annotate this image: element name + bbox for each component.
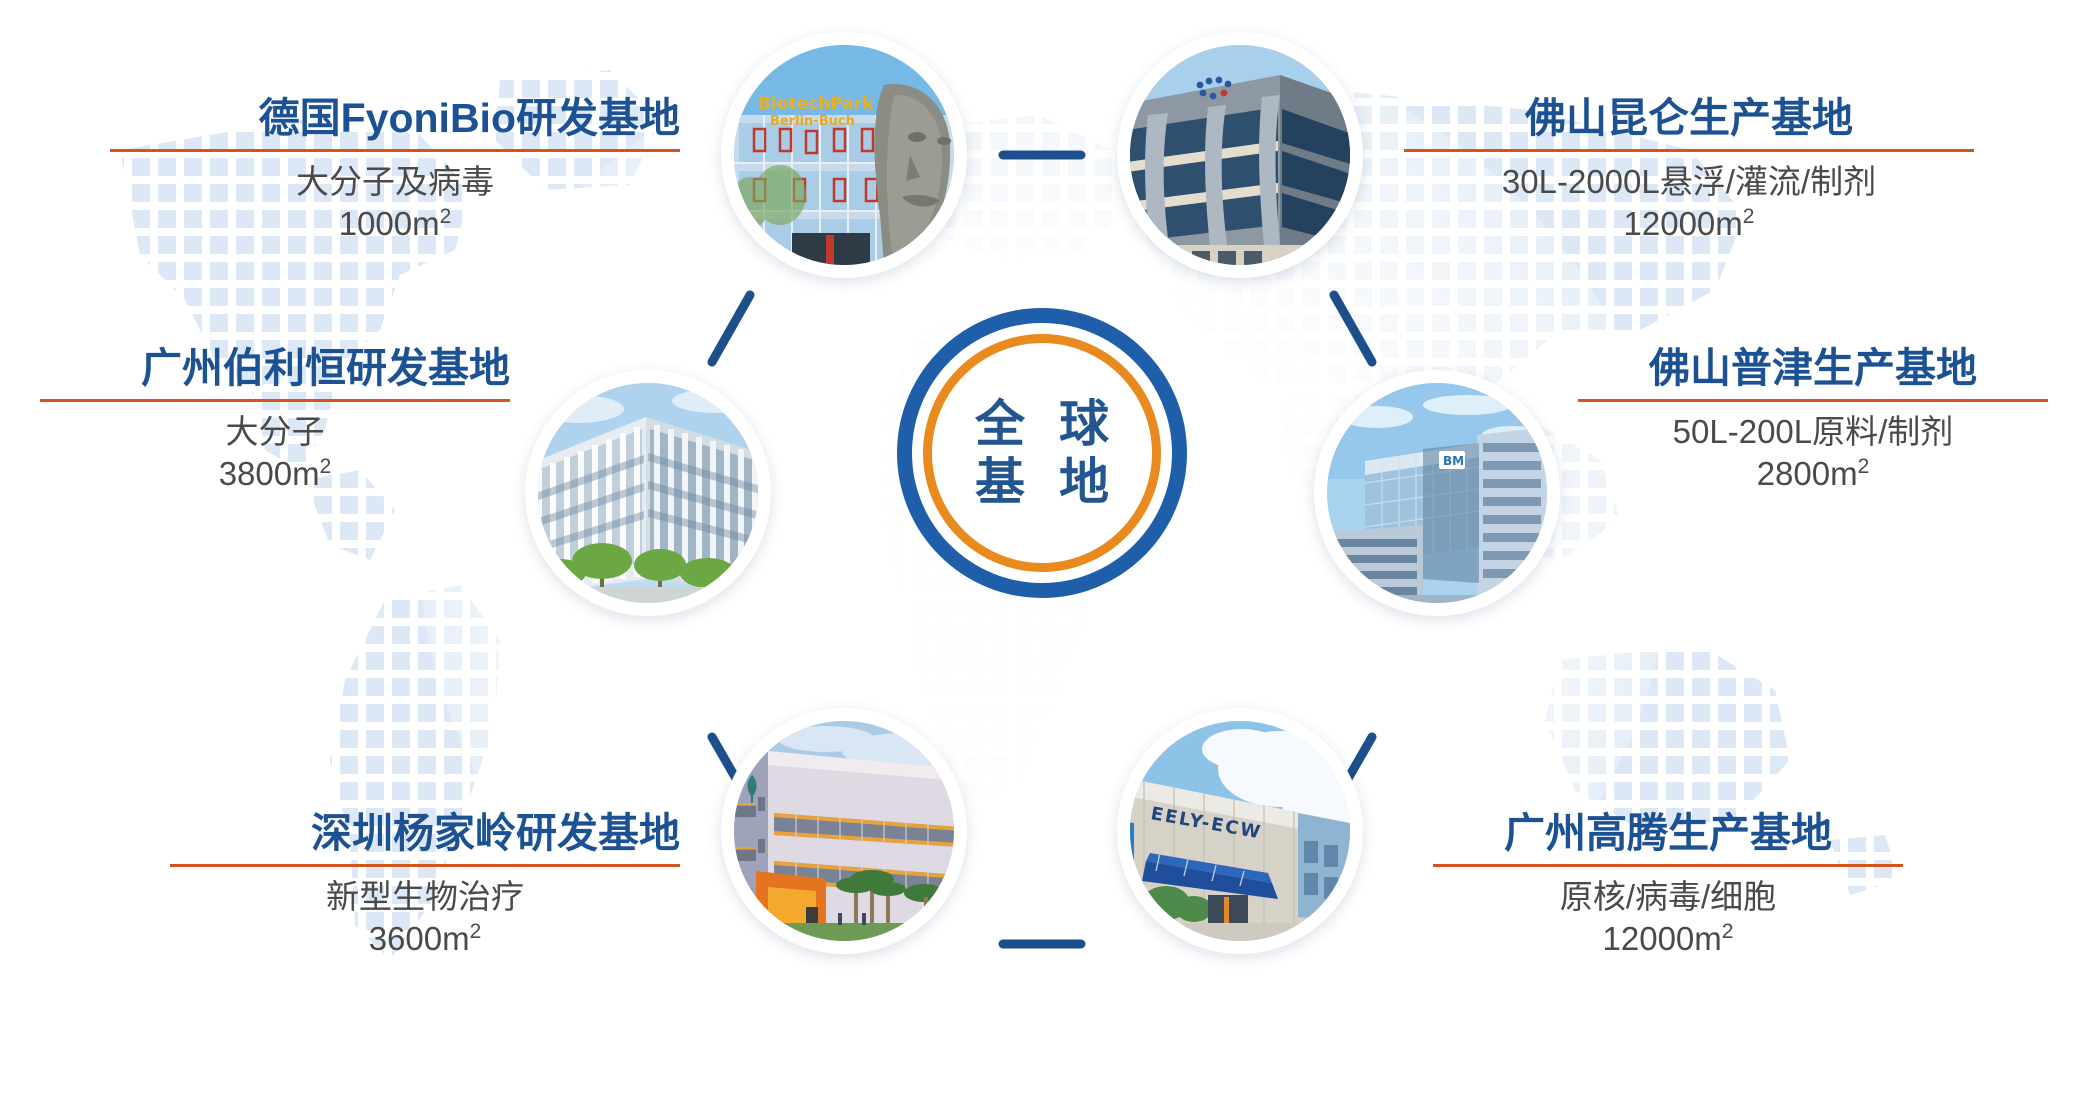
svg-text:Berlin-Buch: Berlin-Buch — [770, 114, 855, 129]
label-guangzhou-boliheng: 广州伯利恒研发基地 大分子 3800m2 — [40, 345, 510, 496]
node-area-germany-fyonibio: 1000m2 — [110, 203, 680, 245]
title-underline — [170, 864, 680, 867]
global-bases-infographic: BiotechPark Berlin-Buch — [0, 0, 2084, 1098]
node-area-shenzhen-yangjialing: 3600m2 — [170, 918, 680, 960]
svg-text:BiotechPark: BiotechPark — [758, 94, 874, 114]
node-subtitle-guangzhou-gaoteng: 原核/病毒/细胞 — [1433, 876, 1903, 918]
node-subtitle-germany-fyonibio: 大分子及病毒 — [110, 161, 680, 203]
label-germany-fyonibio: 德国FyoniBio研发基地 大分子及病毒 1000m2 — [110, 95, 680, 246]
area-exponent: 2 — [470, 920, 482, 943]
node-title-guangzhou-gaoteng: 广州高腾生产基地 — [1433, 810, 1903, 864]
area-exponent: 2 — [1858, 455, 1870, 478]
photo-circle-germany-fyonibio[interactable]: BiotechPark Berlin-Buch — [721, 32, 967, 278]
area-unit: m — [292, 455, 320, 492]
node-subtitle-foshan-kunlun: 30L-2000L悬浮/灌流/制剂 — [1404, 161, 1974, 203]
label-guangzhou-gaoteng: 广州高腾生产基地 原核/病毒/细胞 12000m2 — [1433, 810, 1903, 961]
node-title-shenzhen-yangjialing: 深圳杨家岭研发基地 — [170, 810, 680, 864]
photo-guangzhou-boliheng-facility — [538, 383, 758, 603]
connector-upper-left — [712, 295, 750, 362]
node-area-guangzhou-boliheng: 3800m2 — [40, 453, 510, 495]
title-underline — [110, 149, 680, 152]
node-area-foshan-kunlun: 12000m2 — [1404, 203, 1974, 245]
connector-upper-right — [1334, 295, 1372, 362]
photo-circle-foshan-kunlun[interactable] — [1117, 32, 1363, 278]
title-underline — [40, 399, 510, 402]
area-unit: m — [1694, 920, 1722, 957]
area-value: 1000 — [339, 205, 412, 242]
title-underline — [1404, 149, 1974, 152]
photo-foshan-pujin-facility: BM — [1327, 383, 1547, 603]
node-title-germany-fyonibio: 德国FyoniBio研发基地 — [110, 95, 680, 149]
area-value: 2800 — [1757, 455, 1830, 492]
label-foshan-pujin: 佛山普津生产基地 50L-200L原料/制剂 2800m2 — [1578, 345, 2048, 496]
node-area-foshan-pujin: 2800m2 — [1578, 453, 2048, 495]
area-value: 3600 — [369, 920, 442, 957]
area-unit: m — [1715, 205, 1743, 242]
photo-circle-shenzhen-yangjialing[interactable] — [721, 708, 967, 954]
area-exponent: 2 — [1722, 920, 1734, 943]
svg-text:BM: BM — [1443, 454, 1464, 468]
area-value: 12000 — [1624, 205, 1716, 242]
node-subtitle-foshan-pujin: 50L-200L原料/制剂 — [1578, 411, 2048, 453]
area-unit: m — [1830, 455, 1858, 492]
label-shenzhen-yangjialing: 深圳杨家岭研发基地 新型生物治疗 3600m2 — [170, 810, 680, 961]
node-subtitle-guangzhou-boliheng: 大分子 — [40, 411, 510, 453]
title-underline — [1433, 864, 1903, 867]
center-label: 全 球 基 地 — [897, 308, 1187, 598]
node-title-foshan-kunlun: 佛山昆仑生产基地 — [1404, 95, 1974, 149]
photo-circle-guangzhou-gaoteng[interactable]: EELY-ECW — [1117, 708, 1363, 954]
center-label-line2: 基 地 — [965, 456, 1119, 509]
node-title-guangzhou-boliheng: 广州伯利恒研发基地 — [40, 345, 510, 399]
photo-foshan-kunlun-facility — [1130, 45, 1350, 265]
photo-guangzhou-gaoteng-facility: EELY-ECW — [1130, 721, 1350, 941]
area-value: 12000 — [1603, 920, 1695, 957]
label-foshan-kunlun: 佛山昆仑生产基地 30L-2000L悬浮/灌流/制剂 12000m2 — [1404, 95, 1974, 246]
area-unit: m — [412, 205, 440, 242]
photo-biotechpark-berlin-buch: BiotechPark Berlin-Buch — [734, 45, 954, 265]
area-exponent: 2 — [1743, 205, 1755, 228]
photo-shenzhen-yangjialing-facility — [734, 721, 954, 941]
center-label-line1: 全 球 — [965, 398, 1119, 451]
node-title-foshan-pujin: 佛山普津生产基地 — [1578, 345, 2048, 399]
center-emblem: 全 球 基 地 — [897, 308, 1187, 598]
photo-circle-guangzhou-boliheng[interactable] — [525, 370, 771, 616]
area-exponent: 2 — [320, 455, 332, 478]
area-exponent: 2 — [440, 205, 452, 228]
area-value: 3800 — [219, 455, 292, 492]
node-subtitle-shenzhen-yangjialing: 新型生物治疗 — [170, 876, 680, 918]
node-area-guangzhou-gaoteng: 12000m2 — [1433, 918, 1903, 960]
title-underline — [1578, 399, 2048, 402]
photo-circle-foshan-pujin[interactable]: BM — [1314, 370, 1560, 616]
area-unit: m — [442, 920, 470, 957]
